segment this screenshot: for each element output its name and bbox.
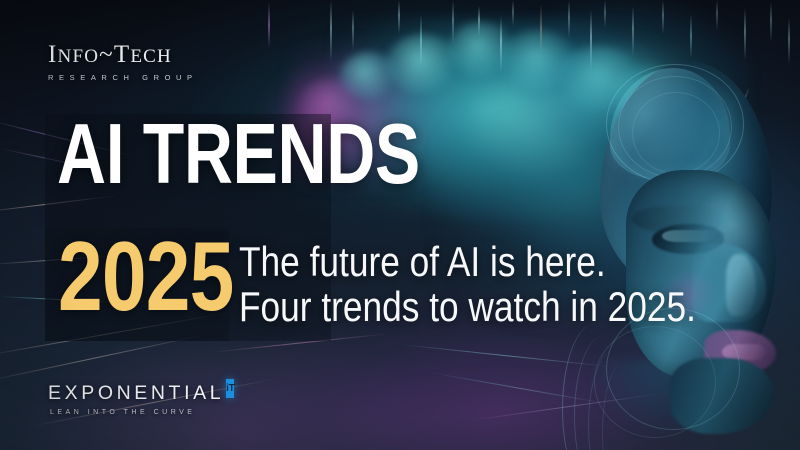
page-title: AI TRENDS [57,118,420,191]
info-tech-logo-subtitle: RESEARCH GROUP [48,73,278,82]
logo-cap-t: T [114,41,130,68]
logo-cap-i: I [48,41,58,68]
it-square-badge: iT [226,379,234,398]
page-title-year: 2025 [58,232,233,320]
info-tech-logo: INFO~TECH RESEARCH GROUP [48,42,278,82]
logo-smallcaps-ech: ECH [130,46,172,67]
slide-canvas: INFO~TECH RESEARCH GROUP AI TRENDS 2025 … [0,0,800,450]
tagline-line-2: Four trends to watch in 2025. [239,285,696,330]
it-badge-label: iT [226,384,234,394]
info-tech-logo-name: INFO~TECH [48,42,278,67]
tagline: The future of AI is here. Four trends to… [239,240,696,330]
logo-tilde: ~ [99,41,114,68]
tagline-line-1: The future of AI is here. [239,240,696,285]
exponential-logo: EXPONENTIAL iT LEAN INTO THE CURVE [48,384,228,416]
exponential-logo-word: EXPONENTIAL [48,384,224,404]
exponential-logo-subtitle: LEAN INTO THE CURVE [50,409,228,416]
logo-smallcaps-nfo: NFO [58,46,100,67]
